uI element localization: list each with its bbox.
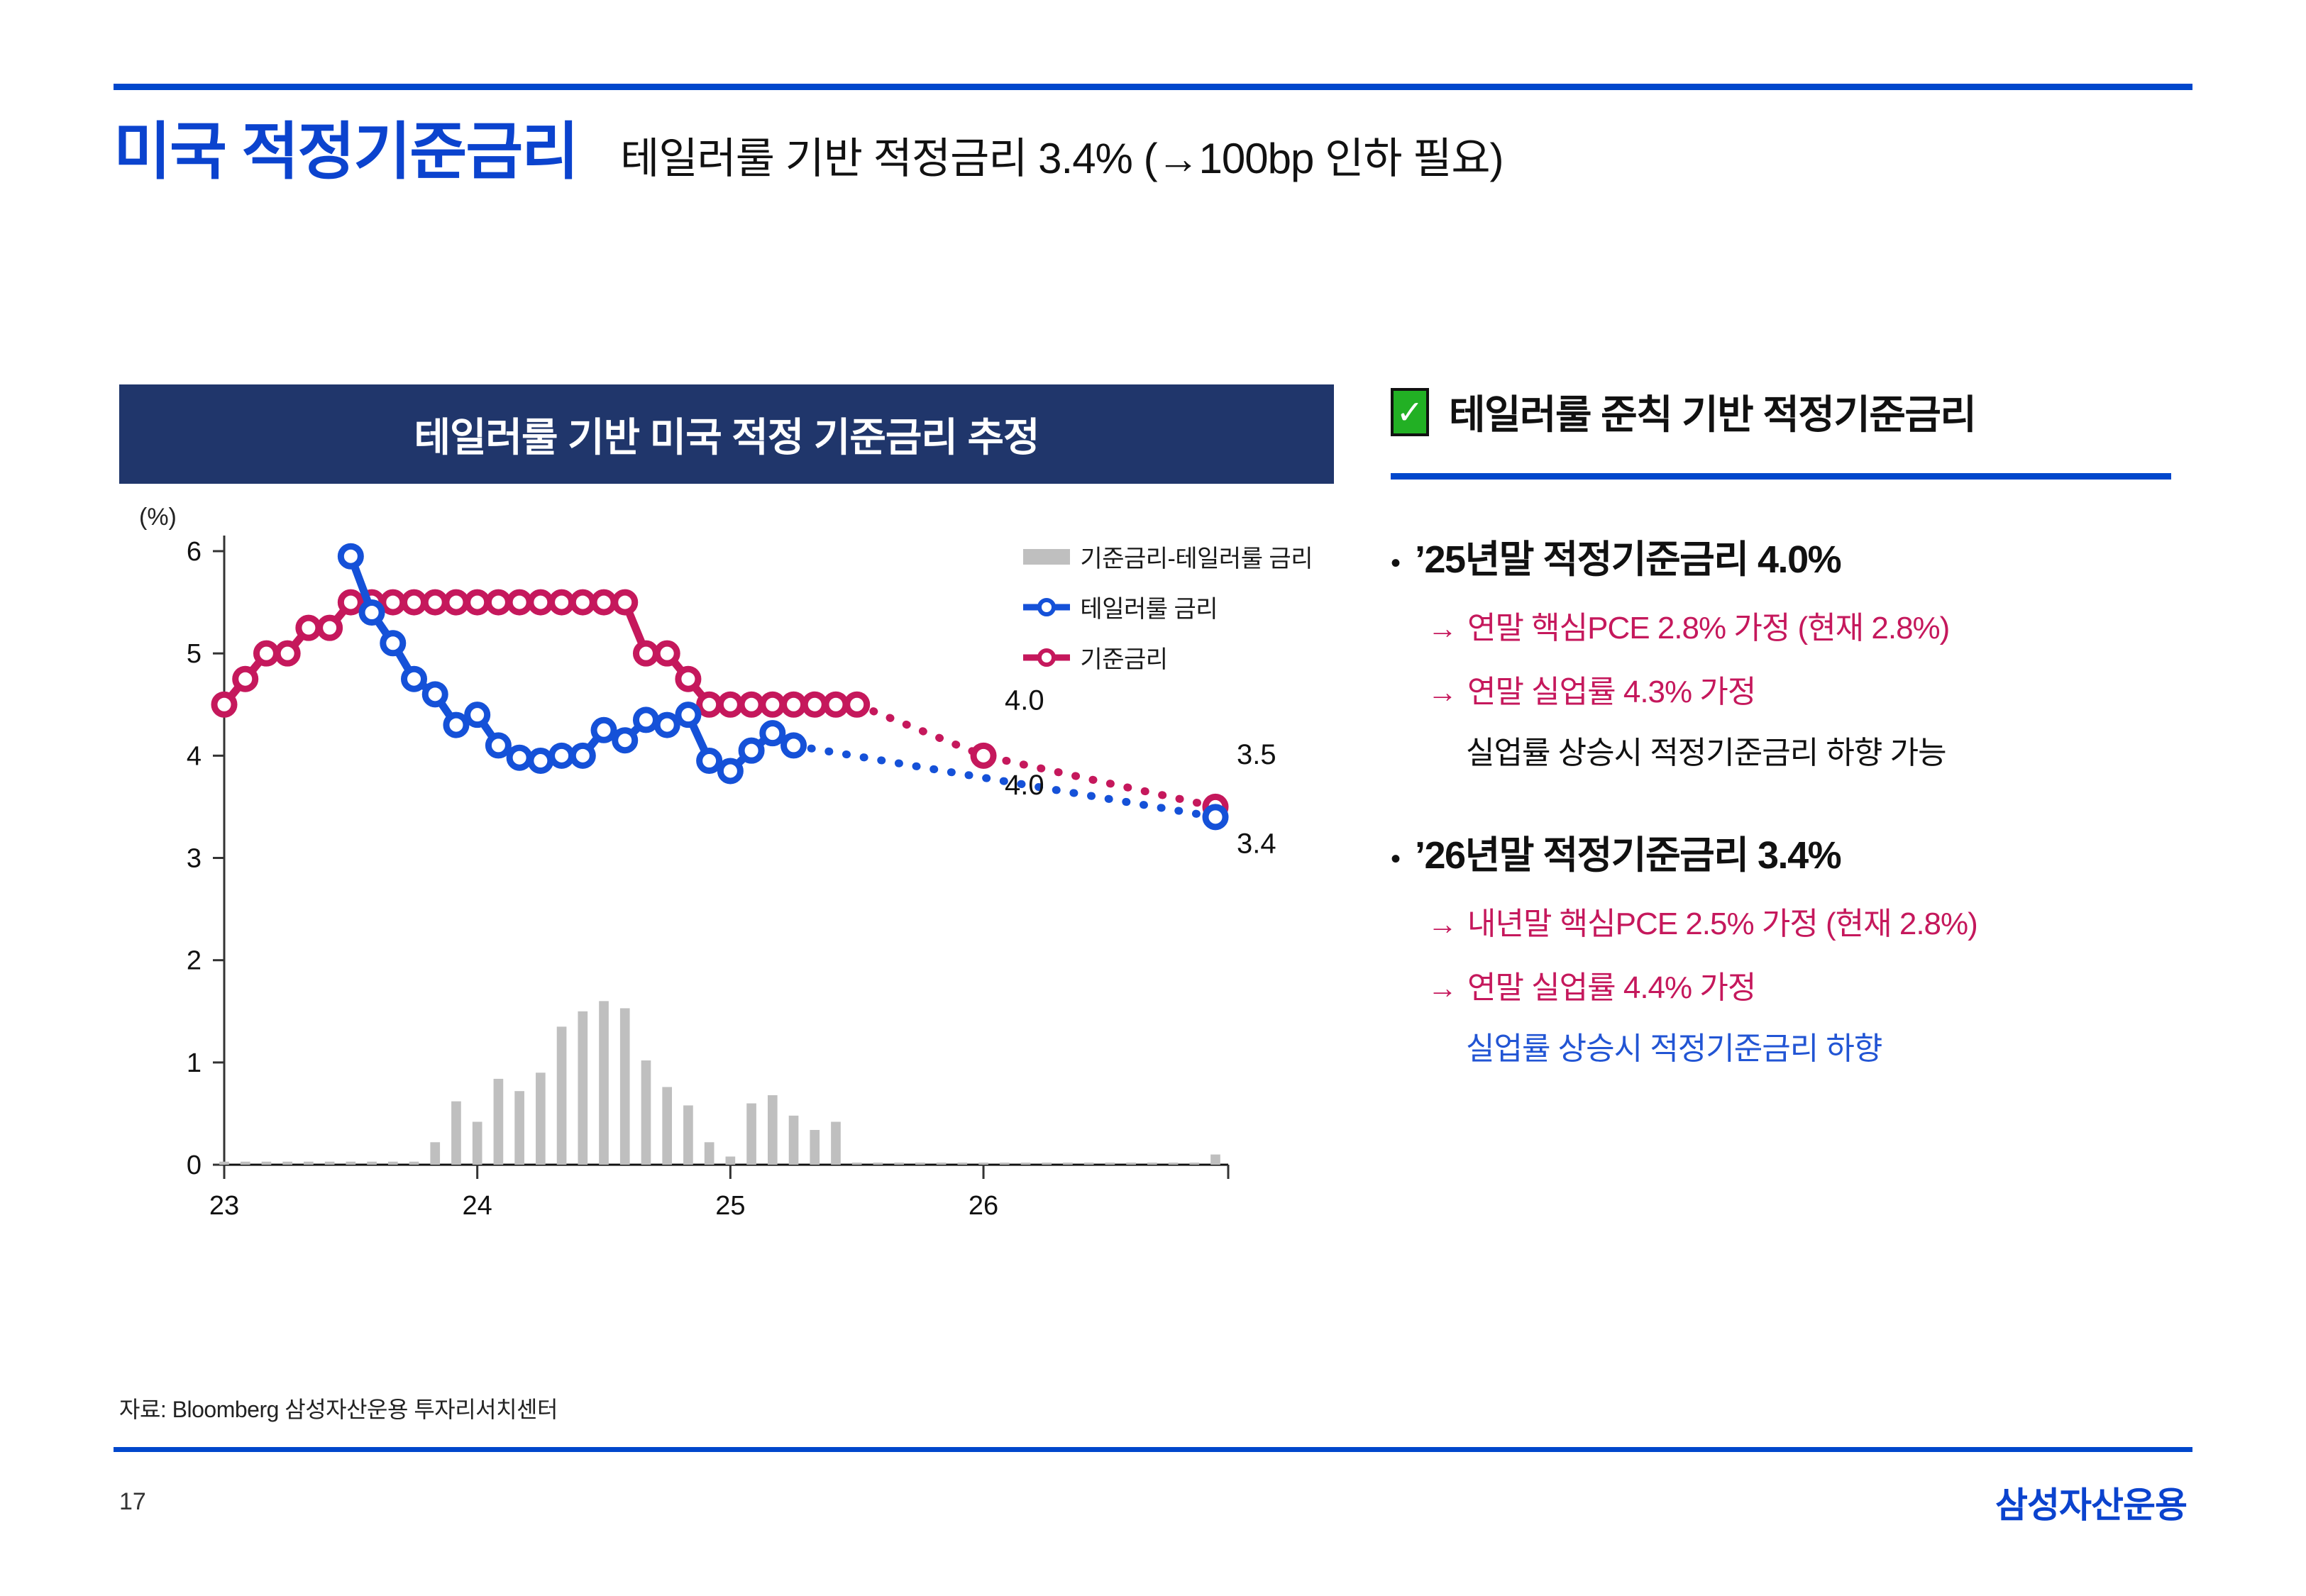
chart-header-title: 테일러룰 기반 미국 적정 기준금리 추정: [414, 406, 1039, 463]
footer-rule: [114, 1447, 2192, 1452]
chart-header-bar: 테일러룰 기반 미국 적정 기준금리 추정: [119, 384, 1334, 484]
bullet-block-2025: • ’25년말 적정기준금리 4.0% → 연말 핵심PCE 2.8% 가정 (…: [1391, 528, 2192, 772]
bullet-heading-2025: ’25년말 적정기준금리 4.0%: [1415, 528, 1841, 584]
bullet-subline-text: 실업률 상승시 적정기준금리 하향: [1391, 1023, 2192, 1068]
title-row: 미국 적정기준금리 테일러룰 기반 적정금리 3.4% (→100bp 인하 필…: [114, 121, 2029, 183]
legend-item-taylor: 테일러룰 금리: [1023, 589, 1313, 624]
bullet-subline-text: 연말 실업률 4.4% 가정: [1467, 962, 1755, 1007]
bullet-dot-icon: •: [1391, 845, 1401, 873]
svg-text:3.5: 3.5: [1237, 739, 1276, 770]
svg-text:26: 26: [969, 1191, 998, 1221]
legend-item-policy: 기준금리: [1023, 640, 1313, 675]
chart-legend: 기준금리-테일러룰 금리 테일러룰 금리 기준금리: [1023, 539, 1313, 675]
bullet-heading-row: • ’26년말 적정기준금리 3.4%: [1391, 824, 2192, 880]
svg-text:3.4: 3.4: [1237, 828, 1276, 859]
arrow-icon: →: [1428, 908, 1457, 941]
arrow-icon: →: [1428, 676, 1457, 709]
svg-text:2: 2: [187, 946, 202, 976]
page-subtitle: 테일러룰 기반 적정금리 3.4% (→100bp 인하 필요): [620, 138, 1503, 180]
legend-label-policy: 기준금리: [1080, 640, 1167, 675]
page-number: 17: [119, 1488, 146, 1516]
bullet-subline-text: 연말 실업률 4.3% 가정: [1467, 666, 1755, 711]
svg-text:4.0: 4.0: [1005, 770, 1044, 801]
svg-text:3: 3: [187, 844, 202, 874]
chart-unit-label: (%): [139, 504, 177, 531]
svg-text:23: 23: [209, 1191, 239, 1221]
legend-line-swatch-taylor-icon: [1023, 597, 1070, 618]
legend-label-spread: 기준금리-테일러룰 금리: [1080, 539, 1313, 574]
svg-text:1: 1: [187, 1048, 202, 1078]
bullet-subline-text: 실업률 상승시 적정기준금리 하향 가능: [1391, 727, 2192, 772]
insight-panel-rule: [1391, 473, 2171, 480]
bullet-subline: → 연말 실업률 4.3% 가정: [1391, 666, 2192, 711]
bullet-subline: → 내년말 핵심PCE 2.5% 가정 (현재 2.8%): [1391, 898, 2192, 943]
chart-source-note: 자료: Bloomberg 삼성자산운용 투자리서치센터: [119, 1392, 558, 1424]
legend-bar-swatch-icon: [1023, 546, 1070, 567]
bullet-heading-row: • ’25년말 적정기준금리 4.0%: [1391, 528, 2192, 584]
svg-text:4: 4: [187, 741, 202, 771]
legend-label-taylor: 테일러룰 금리: [1080, 589, 1218, 624]
insight-panel: ✓ 테일러룰 준칙 기반 적정기준금리 • ’25년말 적정기준금리 4.0% …: [1391, 383, 2192, 1119]
bullet-dot-icon: •: [1391, 549, 1401, 577]
legend-item-spread: 기준금리-테일러룰 금리: [1023, 539, 1313, 574]
arrow-icon: →: [1428, 612, 1457, 645]
chart-body: (%) 기준금리-테일러룰 금리 테일러룰 금리: [119, 484, 1334, 1299]
svg-text:4.0: 4.0: [1005, 685, 1044, 716]
svg-text:25: 25: [715, 1191, 745, 1221]
chart-panel: 테일러룰 기반 미국 적정 기준금리 추정 (%) 기준금리-테일러룰 금리 테…: [119, 384, 1334, 1299]
svg-text:6: 6: [187, 537, 202, 567]
insight-panel-header: ✓ 테일러룰 준칙 기반 적정기준금리: [1391, 383, 2192, 440]
slide-root: 미국 적정기준금리 테일러룰 기반 적정금리 3.4% (→100bp 인하 필…: [0, 0, 2306, 1596]
bullet-subline: → 연말 핵심PCE 2.8% 가정 (현재 2.8%): [1391, 602, 2192, 648]
bullet-heading-2026: ’26년말 적정기준금리 3.4%: [1415, 824, 1841, 880]
insight-panel-title: 테일러룰 준칙 기반 적정기준금리: [1449, 383, 1975, 440]
legend-line-swatch-policy-icon: [1023, 647, 1070, 668]
check-icon: ✓: [1391, 388, 1429, 436]
bullet-subline: → 연말 실업률 4.4% 가정: [1391, 962, 2192, 1007]
bullet-block-2026: • ’26년말 적정기준금리 3.4% → 내년말 핵심PCE 2.5% 가정 …: [1391, 824, 2192, 1068]
arrow-icon: →: [1428, 972, 1457, 1004]
svg-text:24: 24: [463, 1191, 492, 1221]
bullet-subline-text: 내년말 핵심PCE 2.5% 가정 (현재 2.8%): [1467, 898, 1977, 943]
insight-bullet-list: • ’25년말 적정기준금리 4.0% → 연말 핵심PCE 2.8% 가정 (…: [1391, 528, 2192, 1068]
bullet-subline-text: 연말 핵심PCE 2.8% 가정 (현재 2.8%): [1467, 602, 1949, 648]
header-top-rule: [114, 84, 2192, 90]
svg-text:0: 0: [187, 1151, 202, 1180]
svg-text:5: 5: [187, 639, 202, 669]
page-title: 미국 적정기준금리: [114, 121, 578, 183]
company-logo: 삼성자산운용: [1995, 1477, 2187, 1528]
